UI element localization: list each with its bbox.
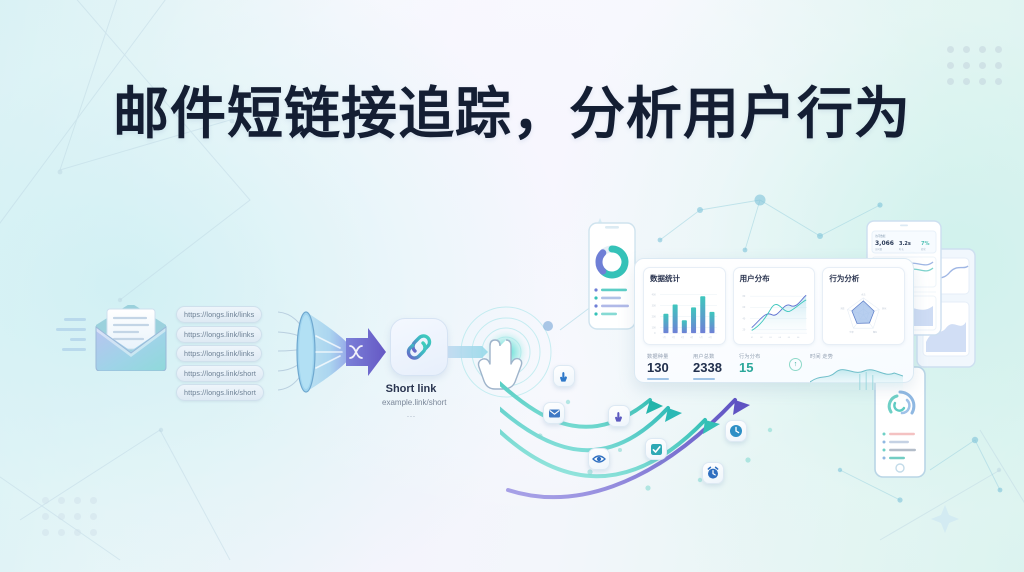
svg-text:5月: 5月 (699, 335, 702, 339)
sparkline (810, 364, 903, 390)
svg-text:0: 0 (654, 332, 656, 335)
dashboard-stats-row: 数据种量 130 用户总数 2338 行为分布 15 ↑ 时间 走势 (643, 351, 905, 390)
url-pill[interactable]: https://longs.link/short (176, 365, 264, 382)
stat-value: 15 (739, 360, 779, 376)
svg-text:05: 05 (787, 337, 790, 339)
svg-text:时长: 时长 (899, 247, 904, 251)
card-title: 行为分析 (829, 273, 898, 284)
svg-text:100: 100 (652, 326, 657, 329)
stat-label: 行为分布 (739, 353, 779, 360)
svg-text:300: 300 (652, 304, 657, 307)
svg-text:分享: 分享 (850, 330, 854, 334)
svg-text:2月: 2月 (672, 335, 675, 339)
stat-underline (647, 378, 669, 380)
analytics-dashboard[interactable]: 数据统计 (634, 258, 914, 383)
card-title: 用户分布 (740, 273, 809, 284)
cursor-click-icon[interactable] (553, 365, 575, 387)
url-pill[interactable]: https://longs.link/links (176, 345, 262, 362)
clock-icon[interactable] (725, 420, 747, 442)
short-link-title: Short link (382, 383, 440, 395)
svg-text:3.2s: 3.2s (899, 241, 911, 247)
trend-item: 时间 走势 (810, 353, 903, 390)
mail-open-icon[interactable] (543, 402, 565, 424)
stat-item: 行为分布 15 (739, 353, 779, 376)
svg-text:转化: 转化 (921, 247, 926, 251)
envelope-icon (88, 305, 174, 371)
svg-text:80: 80 (742, 295, 745, 298)
eye-view-icon[interactable] (588, 448, 610, 470)
svg-text:访问数据: 访问数据 (875, 234, 886, 238)
svg-text:4月: 4月 (690, 335, 693, 339)
svg-text:3,066: 3,066 (875, 240, 894, 247)
url-pill[interactable]: https://longs.link/short (176, 384, 264, 401)
bar-chart: 400300 2001000 (650, 287, 719, 341)
svg-text:200: 200 (652, 315, 657, 318)
illustration-banner: 邮件短链接追踪，分析用户行为 (0, 0, 1024, 572)
hand-pointer-icon[interactable] (608, 405, 630, 427)
stat-item: 数据种量 130 (647, 353, 687, 380)
trend-label: 时间 走势 (810, 353, 903, 360)
svg-text:点击: 点击 (862, 292, 866, 296)
radar-chart: 点击 转化 留存 分享 浏览 (829, 287, 898, 341)
card-behavior-analysis[interactable]: 行为分析 (822, 267, 905, 345)
svg-text:访问量: 访问量 (875, 247, 883, 251)
funnel-shuffle-icon (292, 306, 388, 398)
url-pill[interactable]: https://longs.link/links (176, 306, 262, 323)
stat-underline (693, 378, 715, 380)
checkbox-icon[interactable] (645, 438, 667, 460)
cursor-glyph (558, 370, 571, 383)
svg-text:20: 20 (742, 328, 745, 331)
stat-item: 用户总数 2338 (693, 353, 733, 380)
svg-text:浏览: 浏览 (841, 307, 845, 311)
svg-text:04: 04 (778, 337, 781, 339)
svg-text:06: 06 (797, 337, 800, 339)
check-glyph (650, 443, 663, 456)
mail-glyph (548, 408, 561, 419)
url-pill[interactable]: https://longs.link/links (176, 326, 262, 343)
short-link-icon-tile[interactable] (390, 318, 448, 376)
short-link-url: example.link/short (382, 398, 440, 407)
svg-text:02: 02 (760, 337, 763, 339)
svg-text:1月: 1月 (663, 335, 666, 339)
svg-text:3月: 3月 (681, 335, 684, 339)
card-user-distribution[interactable]: 用户分布 (733, 267, 816, 345)
stat-label: 用户总数 (693, 353, 733, 360)
hand-glyph (613, 410, 626, 423)
alarm-clock-icon[interactable] (702, 462, 724, 484)
card-data-statistics[interactable]: 数据统计 (643, 267, 726, 345)
phone-donut-chart (588, 222, 636, 330)
dashboard-cards: 数据统计 (643, 267, 905, 345)
card-title: 数据统计 (650, 273, 719, 284)
svg-text:60: 60 (742, 306, 745, 309)
stat-value: 130 (647, 360, 687, 376)
status-badge: ↑ (789, 358, 802, 371)
svg-text:03: 03 (769, 337, 772, 339)
short-link-card[interactable]: Short link example.link/short ··· (390, 318, 448, 421)
stat-value: 2338 (693, 360, 733, 376)
motion-lines (52, 318, 86, 362)
svg-text:6月: 6月 (709, 335, 712, 339)
eye-glyph (592, 454, 606, 464)
svg-text:留存: 留存 (873, 330, 877, 334)
alarm-glyph (706, 466, 720, 480)
clock-glyph (729, 424, 743, 438)
stat-label: 数据种量 (647, 353, 687, 360)
svg-text:7%: 7% (921, 241, 930, 247)
svg-text:400: 400 (652, 293, 657, 296)
main-illustration: https://longs.link/links https://longs.l… (0, 0, 1024, 572)
svg-text:转化: 转化 (883, 307, 887, 311)
svg-text:40: 40 (742, 317, 745, 320)
svg-text:01: 01 (751, 337, 754, 339)
short-link-ellipsis: ··· (382, 411, 440, 421)
line-chart: 8060 4020 010203 040506 (740, 287, 809, 341)
chain-link-icon (402, 330, 436, 364)
